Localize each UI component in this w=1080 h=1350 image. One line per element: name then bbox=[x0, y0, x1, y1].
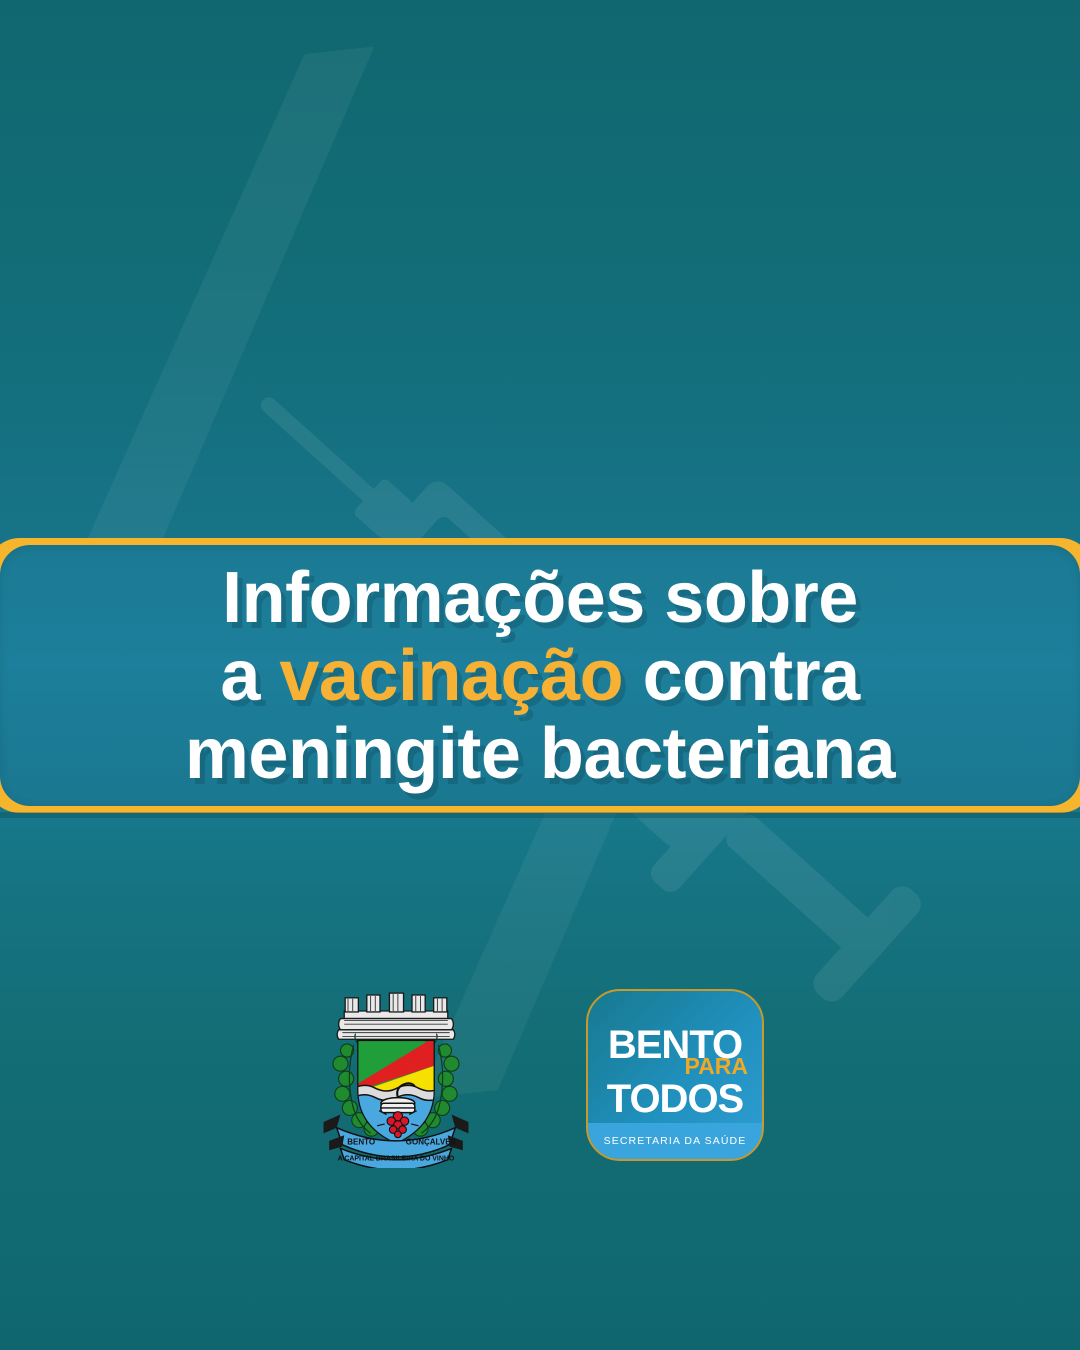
title-line-3: meningite bacteriana bbox=[185, 715, 895, 793]
title-highlight-vacinacao: vacinação bbox=[279, 636, 623, 716]
coat-of-arms-icon: BENTO GONÇALVES A CAPITAL BRASILEIRA DO … bbox=[316, 982, 476, 1168]
coat-motto: A CAPITAL BRASILEIRA DO VINHO bbox=[338, 1156, 455, 1163]
bpt-word-todos: TODOS bbox=[588, 1079, 762, 1119]
logo-row: BENTO GONÇALVES A CAPITAL BRASILEIRA DO … bbox=[0, 975, 1080, 1175]
title-banner: Informações sobre a vacinação contra men… bbox=[0, 538, 1080, 813]
coat-banner-left: BENTO bbox=[347, 1138, 375, 1147]
title-line-2-suffix: contra bbox=[623, 636, 860, 716]
bpt-department-bar: SECRETARIA DA SAÚDE bbox=[588, 1123, 762, 1159]
title-line-1: Informações sobre bbox=[222, 559, 858, 637]
title-line-2-prefix: a bbox=[220, 636, 279, 716]
poster-root: Informações sobre a vacinação contra men… bbox=[0, 0, 1080, 1350]
title-line-2: a vacinação contra bbox=[220, 637, 859, 715]
bpt-department-label: SECRETARIA DA SAÚDE bbox=[604, 1135, 747, 1147]
bpt-word-para: PARA bbox=[685, 1055, 748, 1078]
bpt-wordmark: BENTO TODOS PARA bbox=[588, 1025, 762, 1119]
bento-para-todos-logo: BENTO TODOS PARA SECRETARIA DA SAÚDE bbox=[586, 989, 764, 1161]
title-panel: Informações sobre a vacinação contra men… bbox=[0, 545, 1080, 806]
coat-banner-right: GONÇALVES bbox=[406, 1138, 457, 1147]
